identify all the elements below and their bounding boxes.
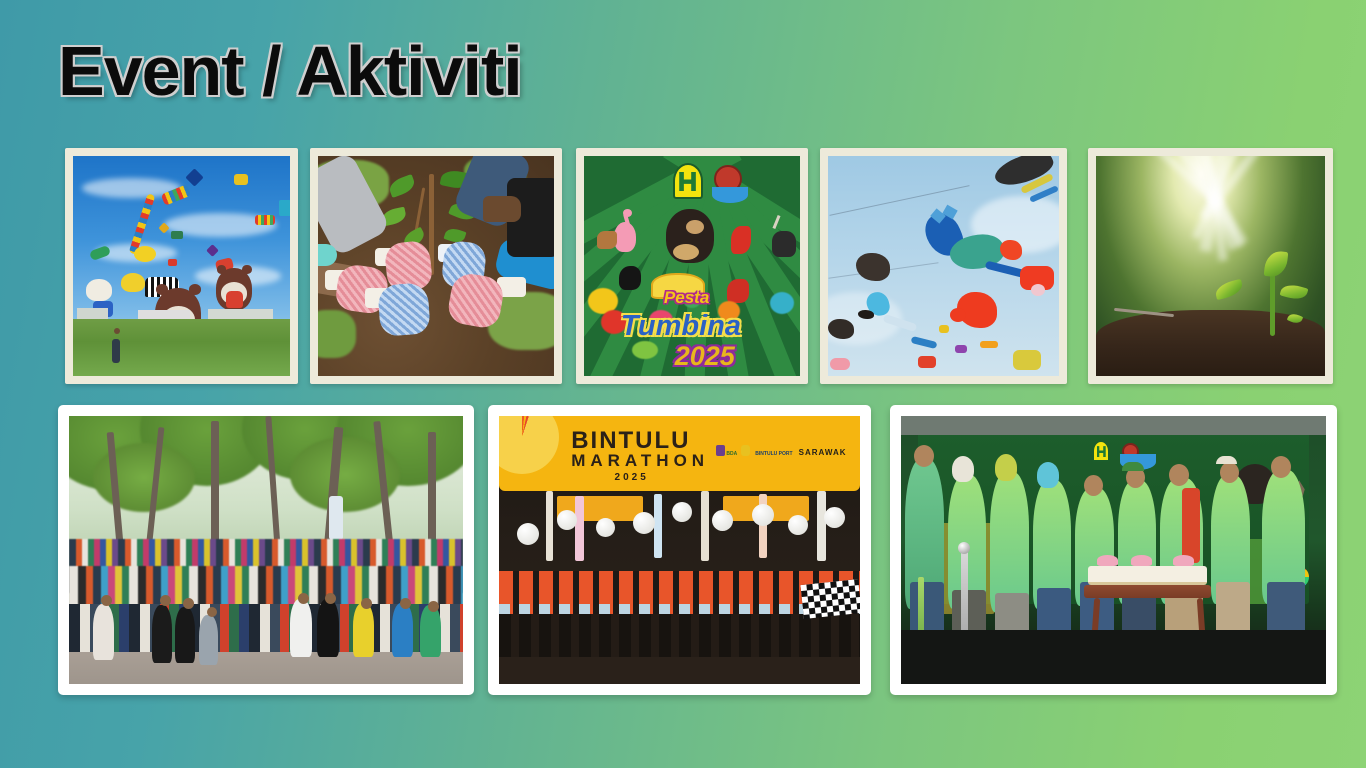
photo-community-run-group-photo (69, 416, 463, 684)
bda-logo-icon (673, 163, 703, 199)
sponsor-logo-bda: BDA (726, 451, 737, 457)
poster-line-pesta: Pesta (664, 288, 709, 308)
gallery-item-kite-festival-field[interactable] (65, 148, 298, 384)
gallery-item-seedling-sunlight[interactable] (1088, 148, 1333, 384)
gallery-item-pesta-tumbina-poster[interactable]: Pesta Tumbina 2025 (576, 148, 808, 384)
poster-line-tumbina: Tumbina (621, 310, 741, 343)
marathon-banner-line2: MARATHON (571, 451, 709, 471)
gallery-item-bintulu-marathon-start[interactable]: BINTULU MARATHON 2025 BDA BINTULU PORT S… (488, 405, 871, 695)
sponsor-logo-bintulu-port: BINTULU PORT (755, 451, 792, 457)
marathon-banner-line3: 2025 (615, 472, 649, 483)
poster-line-year: 2025 (675, 341, 735, 372)
photo-animal-kites-sky (828, 156, 1059, 376)
gallery-item-cake-cutting-ceremony[interactable] (890, 405, 1337, 695)
gallery-item-animal-kites-sky[interactable] (820, 148, 1067, 384)
photo-cake-cutting-ceremony (901, 416, 1326, 684)
photo-bintulu-marathon-start: BINTULU MARATHON 2025 BDA BINTULU PORT S… (499, 416, 860, 684)
gallery-item-tree-planting-hands[interactable] (310, 148, 562, 384)
agency-globe-logo-icon (714, 165, 742, 193)
photo-seedling-sunlight (1096, 156, 1325, 376)
gallery-item-community-run-group-photo[interactable] (58, 405, 474, 695)
photo-kite-festival-field (73, 156, 290, 376)
photo-pesta-tumbina-poster: Pesta Tumbina 2025 (584, 156, 800, 376)
page-title: Event / Aktiviti (58, 36, 522, 106)
sponsor-logo-sarawak: SARAWAK (799, 448, 847, 457)
photo-tree-planting-hands (318, 156, 554, 376)
